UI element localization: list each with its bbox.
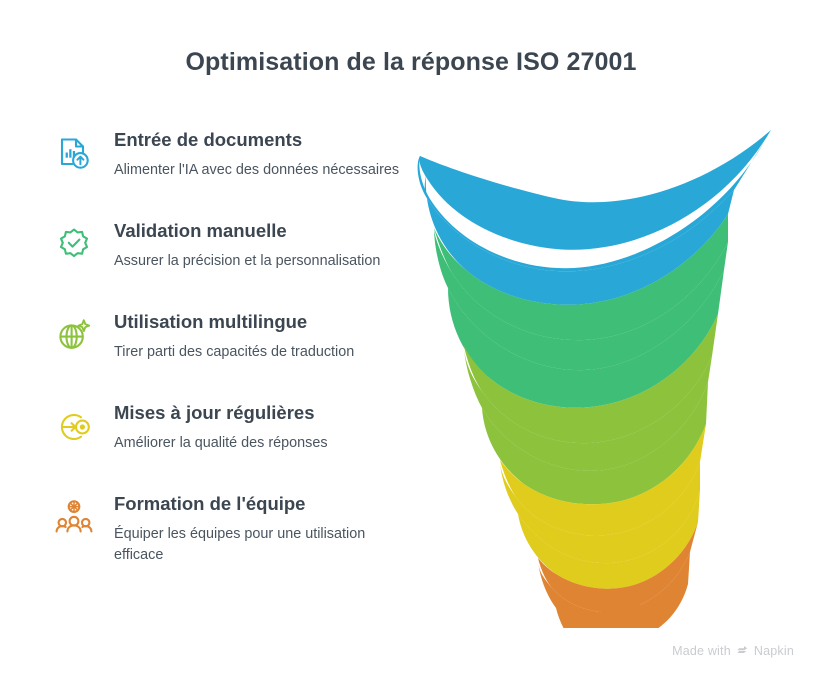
watermark-brand: Napkin [754,644,794,658]
team-training-icon [52,496,96,540]
list-item[interactable]: Formation de l'équipe Équiper les équipe… [52,492,422,565]
list-item-description: Assurer la précision et la personnalisat… [114,251,414,271]
steps-list: Entrée de documents Alimenter l'IA avec … [52,128,422,594]
list-item-title: Validation manuelle [114,219,422,242]
list-item-title: Entrée de documents [114,128,422,151]
list-item-description: Équiper les équipes pour une utilisation… [114,524,414,565]
list-item-description: Alimenter l'IA avec des données nécessai… [114,160,414,180]
list-item-description: Tirer parti des capacités de traduction [114,342,414,362]
funnel-diagram [404,118,794,628]
list-item[interactable]: Utilisation multilingue Tirer parti des … [52,310,422,372]
list-item-description: Améliorer la qualité des réponses [114,433,414,453]
list-item[interactable]: Entrée de documents Alimenter l'IA avec … [52,128,422,190]
page-title: Optimisation de la réponse ISO 27001 [0,48,822,77]
verified-badge-check-icon [52,223,96,267]
globe-sparkle-icon [52,314,96,358]
watermark-prefix: Made with [672,644,731,658]
arrow-to-target-icon [52,405,96,449]
list-item[interactable]: Mises à jour régulières Améliorer la qua… [52,401,422,463]
napkin-logo-icon [736,645,749,657]
infographic-canvas: Optimisation de la réponse ISO 27001 Ent… [0,0,822,684]
document-upload-icon [52,132,96,176]
list-item-title: Formation de l'équipe [114,492,422,515]
list-item[interactable]: Validation manuelle Assurer la précision… [52,219,422,281]
list-item-title: Mises à jour régulières [114,401,422,424]
napkin-watermark: Made with Napkin [672,644,794,658]
list-item-title: Utilisation multilingue [114,310,422,333]
